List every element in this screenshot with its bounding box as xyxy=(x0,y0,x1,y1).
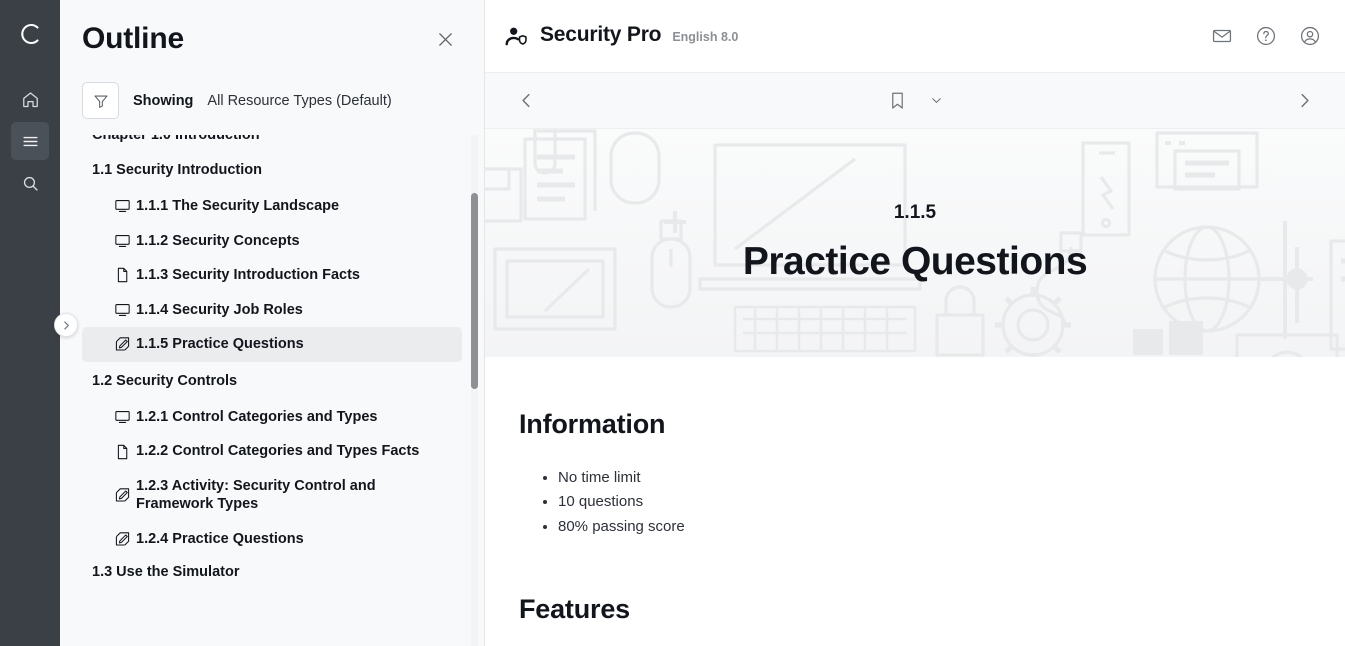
outline-scrollbar-thumb[interactable] xyxy=(471,193,478,389)
main-pane: Security Pro English 8.0 xyxy=(485,0,1345,646)
lesson-title: Practice Questions xyxy=(743,240,1087,284)
sidebar-item-home[interactable] xyxy=(11,80,49,118)
tree-item-label: 1.1.2 Security Concepts xyxy=(136,232,300,251)
sidebar-item-search[interactable] xyxy=(11,164,49,202)
monitor-icon xyxy=(114,409,131,426)
document-icon xyxy=(114,267,131,284)
brand-version: English 8.0 xyxy=(672,30,738,44)
mail-button[interactable] xyxy=(1209,23,1235,49)
lesson-navbar xyxy=(485,73,1345,129)
tree-item[interactable]: 1.1.1 The Security Landscape xyxy=(82,189,462,224)
tree-item-label: 1.2.2 Control Categories and Types Facts xyxy=(136,442,419,461)
pencil-square-icon xyxy=(114,336,131,353)
help-circle-icon xyxy=(1255,25,1277,47)
lesson-hero-banner: 1.1.5 Practice Questions xyxy=(485,129,1345,357)
showing-label: Showing xyxy=(133,93,193,109)
tree-chapter-label[interactable]: 1.3 Use the Simulator xyxy=(82,556,462,588)
home-icon xyxy=(21,90,40,109)
monitor-icon xyxy=(114,232,131,249)
chevron-right-icon xyxy=(1296,92,1313,109)
next-lesson-button[interactable] xyxy=(1289,86,1319,116)
pencil-square-icon xyxy=(114,487,131,504)
chevron-right-icon xyxy=(61,320,72,331)
lesson-number: 1.1.5 xyxy=(894,202,936,224)
help-button[interactable] xyxy=(1253,23,1279,49)
account-circle-icon xyxy=(1299,25,1321,47)
brand-name: Security Pro xyxy=(540,23,661,47)
pencil-square-icon xyxy=(114,336,131,353)
tree-item[interactable]: 1.1.3 Security Introduction Facts xyxy=(82,258,462,293)
outline-tree: Chapter 1.0 Introduction1.1 Security Int… xyxy=(82,135,462,588)
tree-item[interactable]: 1.2.4 Practice Questions xyxy=(82,522,462,557)
header-actions xyxy=(1209,23,1323,49)
monitor-icon xyxy=(114,409,131,426)
monitor-icon xyxy=(114,301,131,318)
list-item: 80% passing score xyxy=(519,515,1345,539)
pencil-square-icon xyxy=(114,531,131,548)
c-logo[interactable] xyxy=(10,14,50,54)
bookmark-icon xyxy=(887,90,908,111)
information-bullet-list: No time limit10 questions80% passing sco… xyxy=(519,466,1345,539)
showing-value[interactable]: All Resource Types (Default) xyxy=(207,93,391,109)
outline-panel: Outline Showing All Resource Types (Defa… xyxy=(60,0,485,646)
sidebar-item-outline[interactable] xyxy=(11,122,49,160)
section-heading-features: Features xyxy=(519,594,1345,625)
monitor-icon xyxy=(114,198,131,215)
tree-item-label: 1.1.5 Practice Questions xyxy=(136,335,304,354)
document-icon xyxy=(114,443,131,460)
list-item: No time limit xyxy=(519,466,1345,490)
hamburger-menu-icon xyxy=(21,132,40,151)
bookmark-button[interactable] xyxy=(887,90,908,111)
page-title: Outline xyxy=(82,22,430,56)
app-header: Security Pro English 8.0 xyxy=(485,0,1345,73)
tree-item[interactable]: 1.2.3 Activity: Security Control and Fra… xyxy=(82,469,462,522)
outline-header: Outline xyxy=(60,0,484,78)
tree-item-label: 1.1.4 Security Job Roles xyxy=(136,301,303,320)
monitor-icon xyxy=(114,232,131,249)
list-item: 10 questions xyxy=(519,490,1345,514)
primary-nav-rail xyxy=(0,0,60,646)
outline-filter-row: Showing All Resource Types (Default) xyxy=(60,78,484,135)
tree-item-label: 1.2.1 Control Categories and Types xyxy=(136,408,377,427)
tree-item-label: 1.2.3 Activity: Security Control and Fra… xyxy=(136,477,452,514)
bookmark-controls xyxy=(485,90,1345,111)
tree-item[interactable]: 1.1.2 Security Concepts xyxy=(82,224,462,259)
tree-section-label[interactable]: 1.1 Security Introduction xyxy=(82,151,462,189)
brand: Security Pro English 8.0 xyxy=(503,23,738,49)
mail-icon xyxy=(1211,25,1233,47)
app-root: Outline Showing All Resource Types (Defa… xyxy=(0,0,1345,646)
tree-item[interactable]: 1.2.2 Control Categories and Types Facts xyxy=(82,434,462,469)
tree-item[interactable]: 1.2.1 Control Categories and Types xyxy=(82,400,462,435)
chevron-down-icon xyxy=(930,94,943,107)
tree-chapter-label[interactable]: Chapter 1.0 Introduction xyxy=(82,135,462,151)
tree-item-label: 1.1.1 The Security Landscape xyxy=(136,197,339,216)
tree-item[interactable]: 1.1.4 Security Job Roles xyxy=(82,293,462,328)
lesson-body: Information No time limit10 questions80%… xyxy=(485,357,1345,625)
previous-lesson-button[interactable] xyxy=(511,86,541,116)
monitor-icon xyxy=(114,198,131,215)
document-icon xyxy=(114,443,131,460)
close-outline-button[interactable] xyxy=(430,24,460,54)
account-button[interactable] xyxy=(1297,23,1323,49)
chevron-left-icon xyxy=(518,92,535,109)
pencil-square-icon xyxy=(114,531,131,548)
funnel-filter-icon xyxy=(92,92,110,110)
section-heading-information: Information xyxy=(519,409,1345,440)
tree-item-active[interactable]: 1.1.5 Practice Questions xyxy=(82,327,462,362)
user-shield-icon xyxy=(503,23,529,49)
pencil-square-icon xyxy=(114,487,131,504)
search-icon xyxy=(21,174,40,193)
outline-tree-scroll: Chapter 1.0 Introduction1.1 Security Int… xyxy=(60,135,484,646)
tree-section-label[interactable]: 1.2 Security Controls xyxy=(82,362,462,400)
filter-button[interactable] xyxy=(82,82,119,119)
monitor-icon xyxy=(114,301,131,318)
bookmark-dropdown-button[interactable] xyxy=(930,94,943,107)
tree-item-label: 1.2.4 Practice Questions xyxy=(136,530,304,549)
close-icon xyxy=(435,29,456,50)
lesson-content: 1.1.5 Practice Questions Information No … xyxy=(485,129,1345,646)
tree-item-label: 1.1.3 Security Introduction Facts xyxy=(136,266,360,285)
sidebar-collapse-handle[interactable] xyxy=(54,313,78,337)
document-icon xyxy=(114,267,131,284)
